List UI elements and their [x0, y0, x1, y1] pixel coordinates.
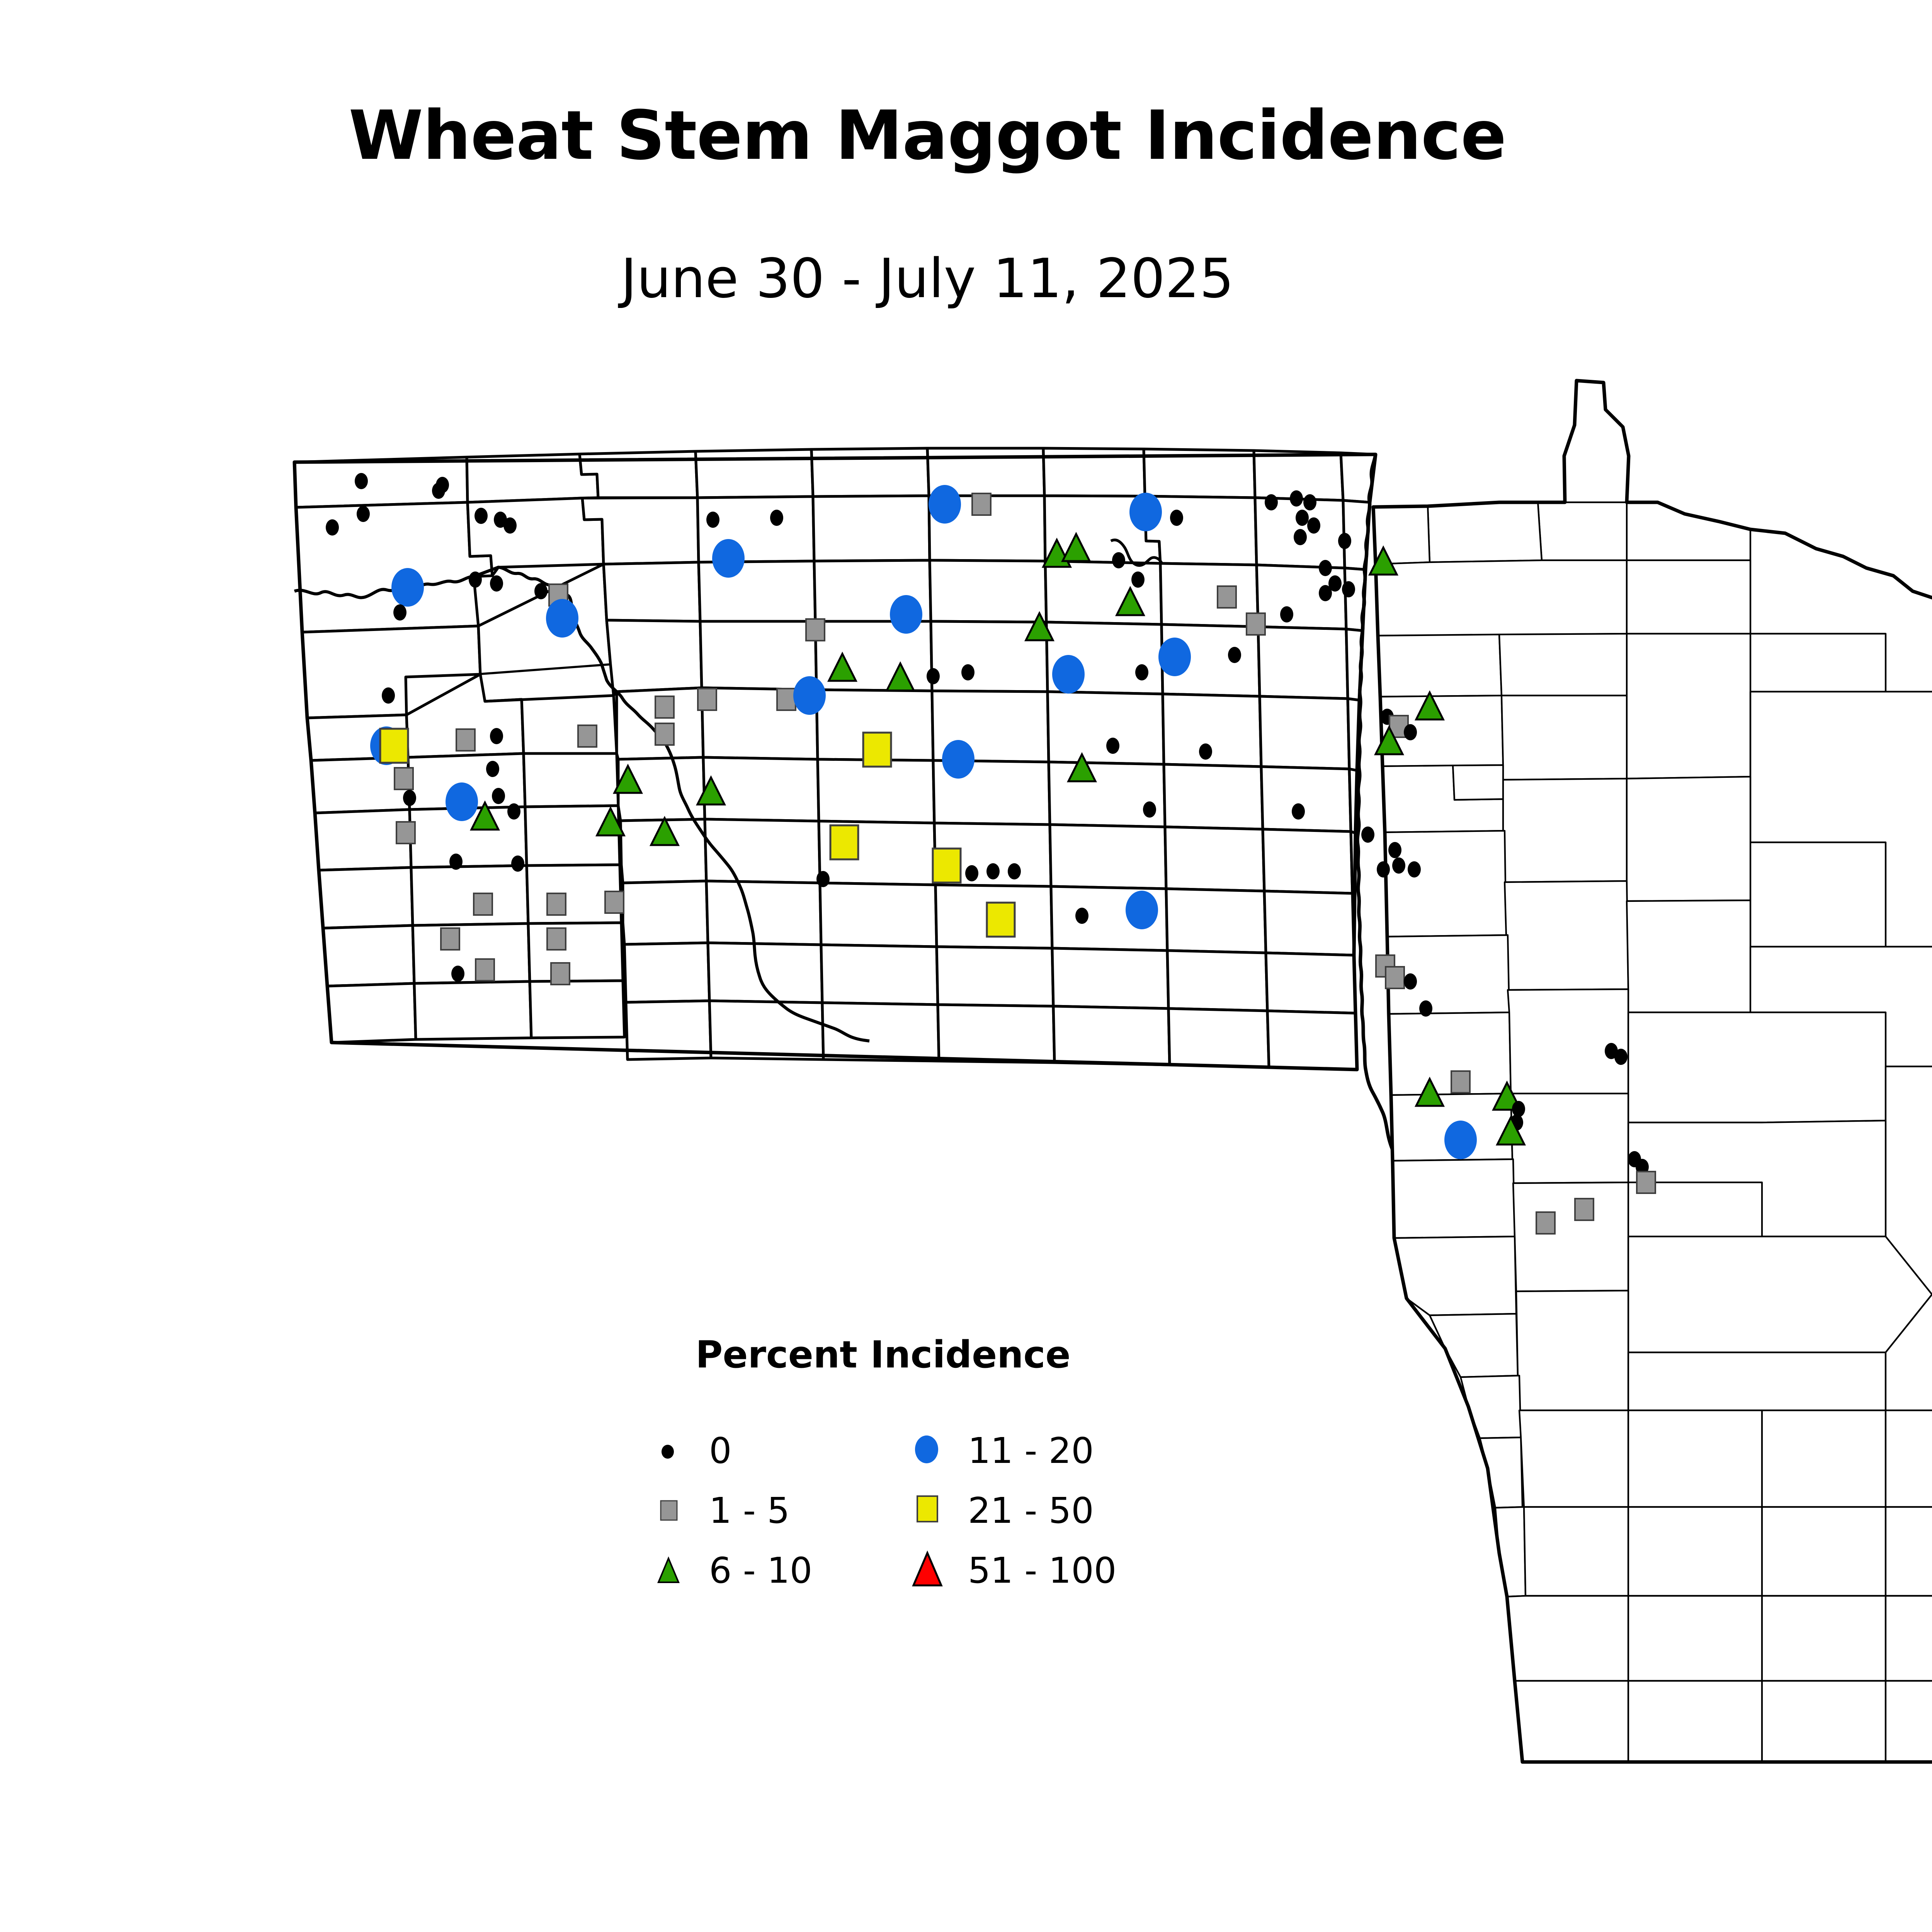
map-legend: Percent Incidence 0 1 - 5 6 - 10 11 - 20 — [603, 1329, 1182, 1607]
incidence-marker — [382, 687, 395, 704]
incidence-marker — [1265, 494, 1278, 510]
incidence-marker — [1112, 552, 1125, 568]
incidence-marker — [1106, 738, 1119, 754]
incidence-marker — [451, 966, 464, 982]
incidence-marker — [1361, 827, 1374, 843]
incidence-marker — [961, 664, 975, 680]
incidence-marker — [507, 803, 520, 820]
incidence-marker — [578, 725, 597, 747]
incidence-marker — [806, 619, 825, 641]
incidence-marker — [655, 723, 674, 745]
incidence-marker — [393, 604, 406, 621]
incidence-marker — [942, 740, 975, 779]
north-dakota-counties — [294, 448, 1376, 986]
incidence-marker — [706, 512, 719, 528]
incidence-marker — [1404, 724, 1417, 740]
incidence-marker — [403, 790, 416, 806]
incidence-marker — [503, 517, 517, 534]
incidence-marker — [1296, 510, 1309, 526]
incidence-marker — [534, 583, 548, 599]
incidence-marker — [933, 849, 961, 883]
incidence-marker — [1637, 1172, 1655, 1193]
incidence-marker — [441, 928, 459, 950]
legend-label-0: 0 — [709, 1430, 732, 1471]
incidence-marker — [1170, 510, 1183, 526]
incidence-marker — [698, 689, 716, 710]
incidence-marker — [1247, 613, 1265, 635]
incidence-marker — [432, 483, 445, 499]
incidence-marker — [380, 729, 408, 763]
incidence-marker — [547, 928, 566, 950]
incidence-marker — [355, 473, 368, 489]
incidence-marker — [476, 959, 494, 981]
incidence-marker — [1052, 655, 1085, 694]
map-figure: Wheat Stem Maggot Incidence June 30 - Ju… — [0, 0, 1932, 1932]
green-triangle-icon — [649, 1548, 692, 1590]
incidence-marker — [1131, 571, 1145, 588]
incidence-marker — [1008, 863, 1021, 879]
incidence-marker — [486, 761, 499, 777]
incidence-marker — [546, 599, 578, 638]
incidence-marker — [1408, 861, 1421, 878]
legend-label-21-50: 21 - 50 — [968, 1490, 1094, 1531]
incidence-marker — [605, 891, 624, 913]
incidence-marker — [547, 893, 566, 915]
incidence-marker — [1218, 586, 1236, 608]
incidence-marker — [1307, 517, 1320, 534]
incidence-marker — [1342, 581, 1355, 597]
incidence-marker — [816, 871, 830, 887]
legend-label-51-100: 51 - 100 — [968, 1550, 1116, 1591]
incidence-marker — [1319, 585, 1332, 601]
legend-label-11-20: 11 - 20 — [968, 1430, 1094, 1471]
incidence-marker — [357, 506, 370, 522]
incidence-marker — [1404, 973, 1417, 990]
incidence-marker — [396, 822, 415, 844]
incidence-marker — [1614, 1049, 1628, 1065]
incidence-marker — [1126, 891, 1158, 929]
incidence-marker — [449, 854, 463, 870]
incidence-marker — [1129, 493, 1162, 531]
small-black-circle-icon — [649, 1428, 692, 1470]
incidence-marker — [1290, 490, 1303, 507]
incidence-marker — [490, 728, 503, 744]
incidence-marker — [511, 855, 524, 872]
incidence-marker — [326, 519, 339, 536]
incidence-marker — [1388, 842, 1401, 858]
incidence-marker — [1377, 861, 1390, 878]
incidence-marker — [1280, 606, 1293, 622]
incidence-marker — [474, 508, 488, 524]
incidence-marker — [987, 903, 1015, 937]
incidence-marker — [712, 539, 745, 578]
incidence-marker — [770, 510, 783, 526]
incidence-marker — [1392, 857, 1405, 874]
legend-label-6-10: 6 - 10 — [709, 1550, 812, 1591]
yellow-square-icon — [908, 1488, 951, 1530]
red-triangle-icon — [908, 1548, 951, 1590]
incidence-marker — [1303, 494, 1316, 510]
incidence-marker — [1199, 743, 1212, 760]
incidence-marker — [1158, 638, 1191, 676]
gray-square-icon — [649, 1488, 692, 1530]
incidence-marker — [890, 595, 922, 634]
incidence-marker — [469, 571, 482, 588]
incidence-marker — [391, 568, 424, 607]
incidence-marker — [551, 963, 570, 985]
incidence-marker — [474, 893, 492, 915]
legend-title: Percent Incidence — [696, 1333, 1071, 1376]
incidence-marker — [1419, 1000, 1432, 1017]
incidence-marker — [1228, 647, 1241, 663]
incidence-marker — [972, 493, 991, 515]
incidence-marker — [456, 729, 475, 751]
legend-label-1-5: 1 - 5 — [709, 1490, 790, 1531]
incidence-marker — [492, 788, 505, 804]
map-canvas — [0, 0, 1932, 1932]
incidence-marker — [1451, 1071, 1470, 1093]
blue-circle-icon — [908, 1428, 951, 1470]
incidence-marker — [965, 865, 978, 881]
incidence-marker — [1292, 803, 1305, 820]
incidence-marker — [927, 668, 940, 684]
incidence-marker — [1143, 801, 1156, 818]
incidence-marker — [1512, 1101, 1525, 1117]
incidence-marker — [1294, 529, 1307, 545]
incidence-marker — [395, 768, 413, 789]
incidence-marker — [1319, 560, 1332, 576]
incidence-marker — [793, 676, 826, 715]
incidence-marker — [1135, 664, 1148, 680]
incidence-marker — [863, 733, 891, 767]
incidence-marker — [1536, 1212, 1555, 1234]
incidence-marker — [446, 782, 478, 821]
incidence-marker — [830, 825, 858, 859]
incidence-marker — [1075, 908, 1088, 924]
incidence-marker — [1444, 1121, 1477, 1159]
incidence-marker — [490, 575, 503, 592]
incidence-marker — [1575, 1199, 1594, 1220]
incidence-marker — [1338, 533, 1351, 549]
incidence-marker — [777, 689, 796, 710]
incidence-marker — [929, 485, 961, 524]
incidence-marker — [1386, 967, 1404, 988]
incidence-marker — [986, 863, 1000, 879]
incidence-marker — [655, 696, 674, 718]
